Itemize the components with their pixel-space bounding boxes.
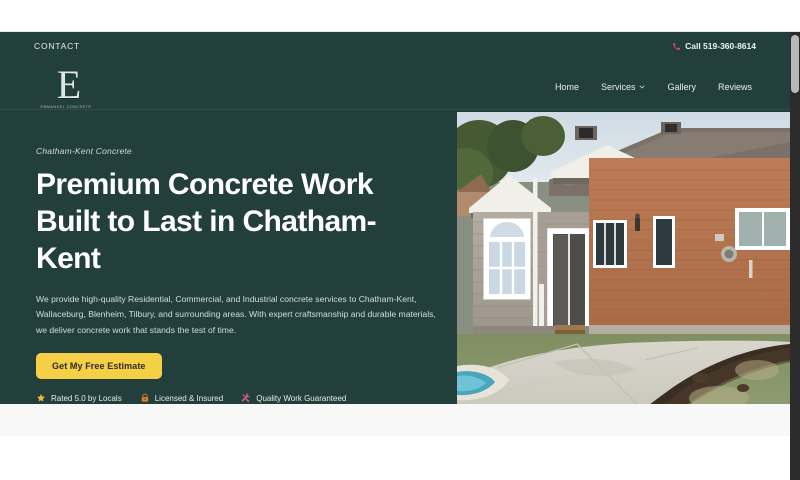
site-logo[interactable]: E Emmanuel Concrete [38, 62, 94, 112]
webpage: CONTACT Call 519-360-8614 E Emmanuel Con… [0, 32, 790, 480]
next-section [0, 404, 790, 480]
contact-label[interactable]: CONTACT [34, 41, 80, 51]
browser-viewport: CONTACT Call 519-360-8614 E Emmanuel Con… [0, 0, 800, 480]
hero-copy: Chatham-Kent Concrete Premium Concrete W… [36, 146, 436, 403]
page-title: Premium Concrete Work Built to Last in C… [36, 166, 396, 278]
phone-icon [672, 42, 681, 51]
trust-badges: Rated 5.0 by Locals Licensed & Insured [36, 393, 436, 403]
nav-item-services[interactable]: Services [601, 82, 646, 92]
chevron-down-icon [639, 84, 645, 90]
nav-label-gallery: Gallery [667, 82, 696, 92]
browser-chrome-strip [0, 0, 800, 32]
primary-nav: Home Services Gallery Reviews [555, 82, 752, 92]
hero-section: CONTACT Call 519-360-8614 E Emmanuel Con… [0, 32, 790, 404]
hero-subcopy: We provide high-quality Residential, Com… [36, 292, 436, 340]
hero-image [457, 112, 790, 432]
badge-label-quality: Quality Work Guaranteed [256, 394, 346, 403]
badge-licensed: Licensed & Insured [140, 393, 224, 403]
phone-link[interactable]: Call 519-360-8614 [672, 41, 756, 51]
scrollbar-thumb[interactable] [791, 35, 799, 93]
nav-item-reviews[interactable]: Reviews [718, 82, 752, 92]
phone-label: Call 519-360-8614 [685, 41, 756, 51]
nav-item-gallery[interactable]: Gallery [667, 82, 696, 92]
utility-bar: CONTACT Call 519-360-8614 [0, 32, 790, 60]
vertical-scrollbar[interactable] [790, 32, 800, 480]
section-band [0, 404, 790, 436]
badge-label-licensed: Licensed & Insured [155, 394, 224, 403]
tools-icon [241, 393, 251, 403]
badge-quality: Quality Work Guaranteed [241, 393, 346, 403]
nav-label-reviews: Reviews [718, 82, 752, 92]
get-free-estimate-button[interactable]: Get My Free Estimate [36, 353, 162, 379]
nav-label-services: Services [601, 82, 636, 92]
nav-label-home: Home [555, 82, 579, 92]
logo-monogram-icon: E [57, 66, 75, 104]
star-icon [36, 393, 46, 403]
nav-item-home[interactable]: Home [555, 82, 579, 92]
badge-label-rated: Rated 5.0 by Locals [51, 394, 122, 403]
logo-subtext: Emmanuel Concrete [41, 105, 92, 109]
hero-eyebrow: Chatham-Kent Concrete [36, 146, 436, 156]
badge-rated: Rated 5.0 by Locals [36, 393, 122, 403]
lock-icon [140, 393, 150, 403]
